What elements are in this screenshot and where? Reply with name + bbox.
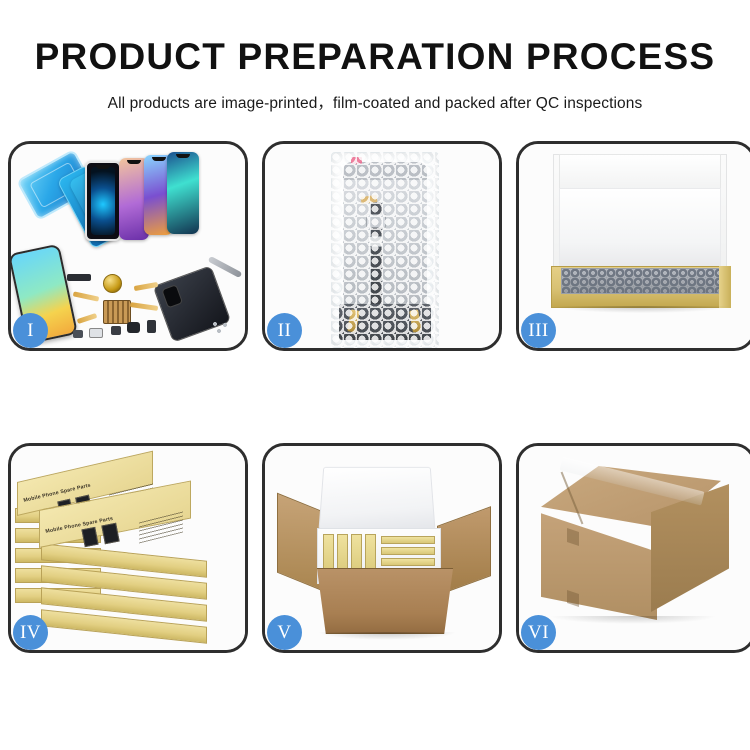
process-step-2-bubble-wrapped-screen: II [262, 141, 502, 351]
white-foam-liner [559, 188, 721, 266]
step-badge-5: V [267, 615, 302, 650]
phone-display-5 [167, 152, 199, 234]
step-1-image [11, 144, 245, 348]
wireless-charging-coil-part [103, 274, 122, 293]
step-4-image: Mobile Phone Spare Parts Mobile Phone Sp… [11, 446, 245, 650]
carton-front-face [541, 510, 657, 620]
box-stack: Mobile Phone Spare Parts Mobile Phone Sp… [13, 452, 245, 650]
header: PRODUCT PREPARATION PROCESS All products… [0, 0, 750, 113]
red-label-tab [351, 157, 362, 164]
product-preparation-process-infographic: PRODUCT PREPARATION PROCESS All products… [0, 0, 750, 750]
lcd-screen-inside-wrap [343, 162, 427, 322]
step-badge-2: II [267, 313, 302, 348]
process-step-5-master-carton-packed: V [262, 443, 502, 653]
tray-right-wall [719, 266, 731, 308]
phone-notch-icon [96, 165, 110, 169]
process-step-4-stacked-retail-boxes: Mobile Phone Spare Parts Mobile Phone Sp… [8, 443, 248, 653]
step-badge-6: VI [521, 615, 556, 650]
lcd-top-bezel [343, 162, 427, 180]
connector-part [67, 274, 91, 281]
step-6-image [519, 446, 750, 650]
connector-part [89, 328, 103, 338]
process-step-3-foam-lined-tray-box: III [516, 141, 750, 351]
driver-ic [368, 236, 383, 247]
retail-box-in-carton [381, 536, 435, 544]
connector-part [127, 322, 140, 333]
step-badge-4: IV [13, 615, 48, 650]
process-step-6-sealed-shipping-carton: VI [516, 443, 750, 653]
carton-handle-notch [567, 590, 579, 607]
bubble-wrapped-contents [561, 268, 721, 294]
connector-part [111, 326, 121, 335]
box-lid-top-flap [559, 154, 721, 190]
process-step-grid: I II [8, 141, 742, 716]
step-badge-3: III [521, 313, 556, 348]
step-5-image [265, 446, 499, 650]
drop-shadow [317, 632, 457, 640]
retail-box-in-carton [381, 547, 435, 555]
page-title: PRODUCT PREPARATION PROCESS [0, 38, 750, 75]
phone-notch-icon [127, 160, 141, 164]
drop-shadow [549, 616, 717, 624]
flex-cable-part [77, 313, 98, 324]
phone-notch-icon [176, 154, 190, 158]
retail-box-in-carton [381, 558, 435, 566]
flex-cable-part [130, 302, 158, 311]
step-2-image [265, 144, 499, 348]
phone-notch-icon [152, 157, 166, 161]
page-subtitle: All products are image-printed，film-coat… [0, 91, 750, 113]
foam-lid [319, 467, 436, 530]
chip-grid-part [103, 300, 131, 324]
drop-shadow [555, 306, 729, 313]
display-connector [366, 214, 386, 228]
carton-body [311, 568, 459, 634]
screws-part [211, 320, 235, 334]
connector-part [147, 320, 156, 333]
step-badge-1: I [13, 313, 48, 348]
process-step-1-raw-components: I [8, 141, 248, 351]
step-3-image [519, 144, 750, 348]
phone-display-front [85, 161, 121, 241]
flex-cable-part [73, 291, 99, 301]
connector-part [73, 330, 83, 338]
